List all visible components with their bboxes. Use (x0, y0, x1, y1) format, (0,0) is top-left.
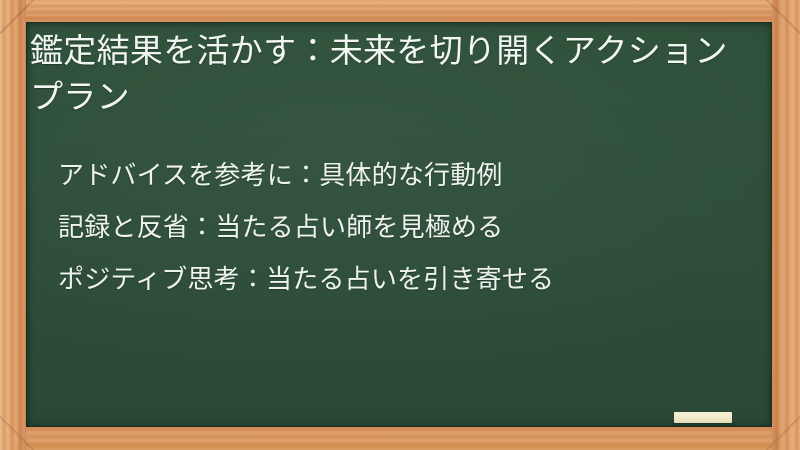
chalkboard-slide: 鑑定結果を活かす：未来を切り開くアクションプラン アドバイスを参考に：具体的な行… (0, 0, 800, 450)
frame-bottom-edge (0, 426, 800, 450)
list-item: ポジティブ思考：当たる占いを引き寄せる (58, 253, 758, 305)
frame-left-edge (0, 0, 26, 450)
slide-bullet-list: アドバイスを参考に：具体的な行動例 記録と反省：当たる占い師を見極める ポジティ… (58, 149, 758, 305)
list-item: 記録と反省：当たる占い師を見極める (58, 201, 758, 253)
frame-top-edge (0, 0, 800, 22)
list-item: アドバイスを参考に：具体的な行動例 (58, 149, 758, 201)
chalkboard-surface: 鑑定結果を活かす：未来を切り開くアクションプラン アドバイスを参考に：具体的な行… (26, 22, 772, 427)
chalkboard-content: 鑑定結果を活かす：未来を切り開くアクションプラン アドバイスを参考に：具体的な行… (26, 22, 772, 427)
frame-right-edge (772, 0, 800, 450)
slide-title: 鑑定結果を活かす：未来を切り開くアクションプラン (30, 28, 746, 120)
chalk-stick-icon (674, 412, 732, 423)
